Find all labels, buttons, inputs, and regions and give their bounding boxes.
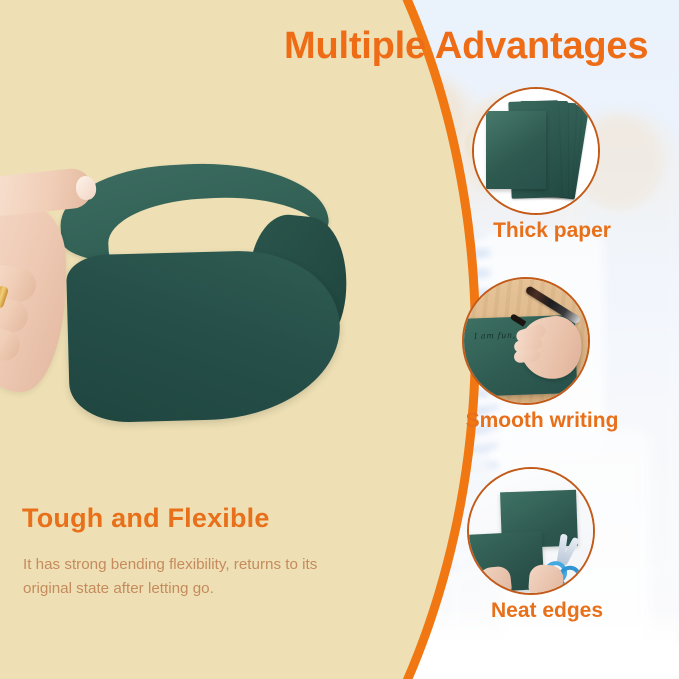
- bent-green-paper: [60, 164, 338, 394]
- hand-left: [478, 565, 513, 595]
- feature-image-smooth-writing: I am fun, an: [462, 277, 590, 405]
- feature-label-thick-paper: Thick paper: [452, 219, 652, 243]
- feature-image-thick-paper: [472, 87, 600, 215]
- hero-heading: Tough and Flexible: [22, 503, 270, 534]
- paper-loop-bottom: [66, 248, 342, 423]
- hero-body-text: It has strong bending flexibility, retur…: [23, 553, 349, 600]
- hand-holding-paper: [0, 170, 90, 410]
- hero-image-flexible-paper: [0, 150, 360, 460]
- hand-right: [528, 564, 564, 595]
- feature-image-neat-edges: [467, 467, 595, 595]
- feature-label-smooth-writing: Smooth writing: [442, 409, 642, 433]
- product-infographic: Multiple Advantages Tough and Flexible I…: [0, 0, 679, 679]
- feature-label-neat-edges: Neat edges: [447, 599, 647, 623]
- paper-sheet-front: [486, 111, 546, 189]
- page-title: Multiple Advantages: [284, 25, 648, 68]
